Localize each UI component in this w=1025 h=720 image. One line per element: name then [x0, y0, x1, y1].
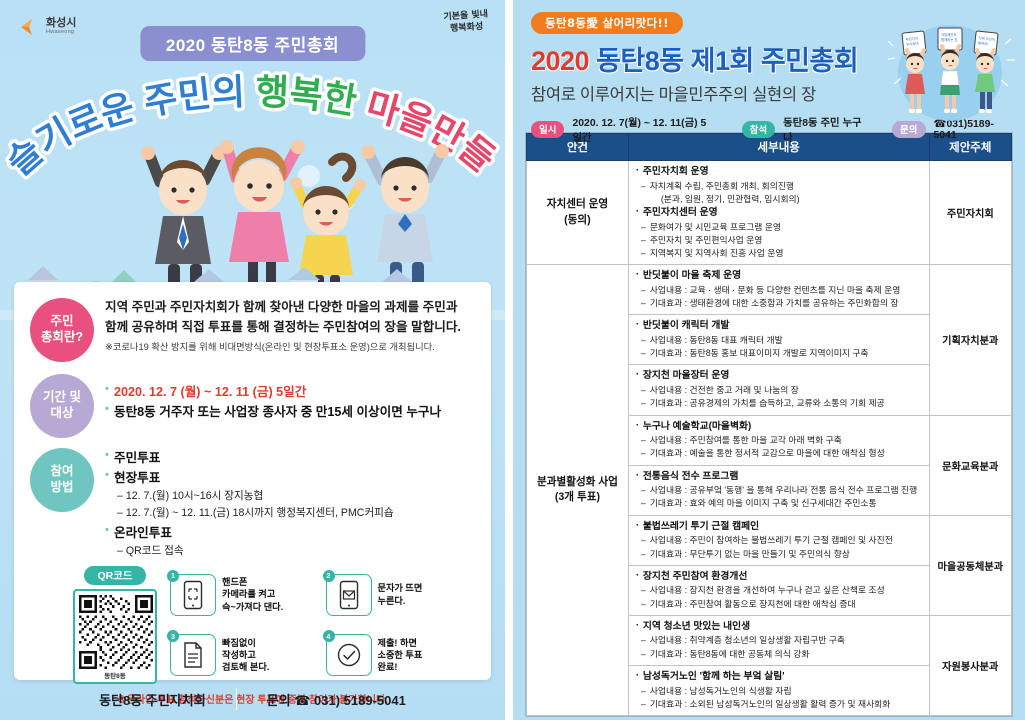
- onsite-detail-1: – 12. 7.(월) 10시~16시 장지농협: [105, 488, 475, 505]
- detail-line: 기대효과 : 무단투기 없는 마을 만들기 및 주민의식 향상: [636, 548, 923, 561]
- proposer-cell: 문화교육분과: [929, 415, 1011, 515]
- step-text-line: 슥~가져다 댄다.: [222, 601, 283, 613]
- detail-line: 기대효과 : 효와 예의 마을 이미지 구축 및 신구세대간 주민소통: [636, 497, 923, 510]
- agenda-title: 분과별활성화 사업: [527, 475, 628, 490]
- bubble-line-2: 총회란?: [41, 330, 83, 344]
- step-text-line: 검토해 본다.: [222, 661, 269, 673]
- agenda-subtitle: (3개 투표): [527, 490, 628, 505]
- qr-code-image[interactable]: [79, 595, 153, 669]
- step-text-line: 문자가 뜨면: [378, 582, 423, 594]
- qr-and-steps: QR코드: [30, 566, 475, 684]
- onsite-detail-2: – 12. 7.(월) ~ 12. 11.(금) 18시까지 행정복지센터, P…: [105, 505, 475, 522]
- detail-cell: 주민자치회 운영 자치계획 수립, 주민총회 개최, 회의진행 (분과, 임원,…: [628, 161, 929, 265]
- detail-cell: 남성독거노인 '함께 하는 부엌 살림' 사업내용 : 남성독거노인의 식생활 …: [628, 665, 929, 715]
- bubble-participation: 참여 방법: [30, 448, 94, 512]
- detail-cell: 반딧불이 마을 축제 운영 사업내용 : 교육 · 생태 · 문화 등 다양한 …: [628, 265, 929, 315]
- proposer-cell: 자원봉사분과: [929, 615, 1011, 715]
- detail-title: 전통음식 전수 프로그램: [636, 470, 923, 485]
- detail-line: 사업내용 : 공유부엌 '동행' 을 통해 우리나라 전통 음식 전수 프로그램…: [636, 484, 923, 497]
- meta-value-attendance: 동탄8동 주민 누구나: [783, 114, 865, 144]
- proposer-cell: 기획자치분과: [929, 265, 1011, 415]
- period-value: 2020. 12. 7 (월) ~ 12. 11 (금) 5일간: [105, 382, 475, 402]
- title-main: 동탄8동 제1회 주민총회: [596, 46, 858, 76]
- online-detail-1: – QR코드 접속: [105, 543, 475, 560]
- list-item: 1 핸드폰 카메라를 켜고 슥~가져다 댄다.: [170, 566, 320, 624]
- hwaseong-star-logo-icon: [18, 15, 42, 39]
- agenda-table: 안건 세부내용 제안주체 자치센터 운영 (동의) 주민자치회 운영 자치계획 …: [526, 133, 1012, 716]
- three-kids-holding-signs-icon: 주민자치 우리동네 사업제안도 함께하는 것 지역 주민이 들려요!: [885, 18, 1015, 123]
- handwritten-slogan: 기본을 빛내 행복화성: [444, 8, 490, 35]
- target-value: 동탄8동 거주자 또는 사업장 종사자 중 만15세 이상이면 누구나: [105, 402, 475, 422]
- table-row: 자치센터 운영 (동의) 주민자치회 운영 자치계획 수립, 주민총회 개최, …: [527, 161, 1012, 265]
- list-item: 4 제출! 하면 소중한 투표 완료!: [326, 626, 476, 684]
- lead-line-1: 지역 주민과 주민자치회가 함께 찾아낸 다양한 마을의 과제를 주민과: [105, 298, 475, 318]
- step-text-line: 핸드폰: [222, 576, 283, 588]
- agenda-title: 자치센터 운영: [527, 197, 628, 212]
- proposer-cell: 주민자치회: [929, 161, 1011, 265]
- method-onsite-vote: 현장투표: [105, 468, 475, 488]
- bubble-line-1: 기간 및: [43, 390, 81, 404]
- detail-line: 사업내용 : 건전한 중고 거래 및 나눔의 장: [636, 384, 923, 397]
- bubble-line-1: 주민: [50, 314, 73, 328]
- bubble-what-is: 주민 총회란?: [30, 298, 94, 362]
- detail-line: 기대효과 : 예술을 통한 정서적 교감으로 마을에 대한 애착심 형성: [636, 447, 923, 460]
- svg-text:함께하는 것: 함께하는 것: [941, 37, 958, 42]
- hwaseong-city-logo: 화성시 Hwaseong: [18, 15, 76, 39]
- table-row: 분과별활성화 사업 (3개 투표) 반딧불이 마을 축제 운영 사업내용 : 교…: [527, 265, 1012, 315]
- step-number: 1: [167, 570, 179, 582]
- qr-caption: 동탄8동: [79, 670, 151, 680]
- detail-line: 주민자치 및 주민편익사업 운영: [636, 234, 923, 247]
- meta-value-datetime: 2020. 12. 7(월) ~ 12. 11(금) 5일간: [572, 114, 714, 144]
- detail-title: 불법쓰레기 투기 근절 캠페인: [636, 520, 923, 535]
- step-text-line: 소중한 투표: [378, 649, 423, 661]
- detail-title: 남성독거노인 '함께 하는 부엌 살림': [636, 670, 923, 685]
- detail-line: 사업내용 : 장지천 환경을 개선하여 누구나 걷고 싶은 산책로 조성: [636, 584, 923, 597]
- footer-contact: 문의 ☎ 031) 5189-5041: [237, 690, 436, 709]
- poster-page-right: 동탄8동愛 살어리랏다!! 2020 동탄8동 제1회 주민총회 참여로 이루어…: [513, 0, 1025, 720]
- step-number: 3: [167, 630, 179, 642]
- method-online-vote: 온라인투표: [105, 523, 475, 543]
- footer-organization: 동탄8동 주민자치회: [69, 690, 236, 709]
- detail-line: 자치계획 수립, 주민총회 개최, 회의진행: [636, 180, 923, 193]
- document-icon: 3: [170, 634, 216, 676]
- agenda-subtitle: (동의): [527, 213, 628, 228]
- list-item: 3 빠짐없이 작성하고 검토해 본다.: [170, 626, 320, 684]
- step-text-line: 카메라를 켜고: [222, 588, 283, 600]
- detail-title: 누구나 예술학교(마을벽화): [636, 420, 923, 435]
- detail-title: 반딧불이 마을 축제 운영: [636, 269, 923, 284]
- check-circle-icon: 4: [326, 634, 372, 676]
- proposer-cell: 마을공동체분과: [929, 515, 1011, 615]
- lead-line-2: 함께 공유하며 직접 투표를 통해 결정하는 주민참여의 장을 말합니다.: [105, 318, 475, 338]
- agenda-cell-2: 분과별활성화 사업 (3개 투표): [527, 265, 629, 716]
- detail-line: 기대효과 : 동탄8동 홍보 대표이미지 개발로 지역이미지 구축: [636, 347, 923, 360]
- city-name-en: Hwaseong: [46, 30, 76, 36]
- detail-line: 문화여가 및 시민교육 프로그램 운영: [636, 221, 923, 234]
- detail-line: 사업내용 : 남성독거노인의 식생활 자립: [636, 685, 923, 698]
- detail-cell: 불법쓰레기 투기 근절 캠페인 사업내용 : 주민이 참여하는 불법쓰레기 투기…: [628, 515, 929, 565]
- bubble-line-2: 대상: [50, 406, 73, 420]
- detail-title: 장지천 주민참여 환경개선: [636, 570, 923, 585]
- detail-line: 사업내용 : 취약계층 청소년의 일상생활 자립구반 구축: [636, 634, 923, 647]
- bubble-line-1: 참여: [50, 464, 73, 478]
- section-what-is: 주민 총회란? 지역 주민과 주민자치회가 함께 찾아낸 다양한 마을의 과제를…: [30, 296, 475, 362]
- meta-tag-attendance: 참석: [742, 121, 775, 138]
- section-participation: 참여 방법 주민투표 현장투표 – 12. 7.(월) 10시~16시 장지농협…: [30, 446, 475, 560]
- step-text-line: 완료!: [378, 661, 423, 673]
- detail-line: 기대효과 : 주민참여 활동으로 장지천에 대한 애착심 증대: [636, 598, 923, 611]
- info-card: 주민 총회란? 지역 주민과 주민자치회가 함께 찾아낸 다양한 마을의 과제를…: [14, 282, 491, 680]
- qr-block: QR코드: [70, 566, 160, 684]
- meta-tag-datetime: 일시: [531, 121, 564, 138]
- detail-line: 기대효과 : 소외된 남성독거노인의 일상생활 활력 증가 및 재사회화: [636, 698, 923, 711]
- detail-title: 반딧불이 캐릭터 개발: [636, 319, 923, 334]
- step-text-line: 제출! 하면: [378, 637, 423, 649]
- orange-slogan-pill: 동탄8동愛 살어리랏다!!: [531, 12, 683, 34]
- agenda-cell-1: 자치센터 운영 (동의): [527, 161, 629, 265]
- title-year: 2020: [531, 46, 589, 76]
- detail-line: 지역복지 및 지역사회 진흥 사업 운영: [636, 247, 923, 260]
- step-number: 4: [323, 630, 335, 642]
- step-text-line: 작성하고: [222, 649, 269, 661]
- detail-line: 기대효과 : 공유경제의 가치를 습득하고, 교류와 소통의 기회 제공: [636, 397, 923, 410]
- detail-cell: 반딧불이 캐릭터 개발 사업내용 : 동탄8동 대표 캐릭터 개발 기대효과 :…: [628, 315, 929, 365]
- telephone-icon: ☎: [294, 693, 310, 708]
- footer-contact-label: 문의: [267, 693, 291, 708]
- left-page-footer: 동탄8동 주민자치회 문의 ☎ 031) 5189-5041: [0, 688, 505, 710]
- detail-title: 주민자치센터 운영: [636, 206, 923, 221]
- detail-line: 사업내용 : 주민이 참여하는 불법쓰레기 투기 근절 캠페인 및 사진전: [636, 534, 923, 547]
- detail-line: 기대효과 : 생태환경에 대한 소중함과 가치를 공유하는 주민화합의 장: [636, 297, 923, 310]
- detail-line: 사업내용 : 교육 · 생태 · 문화 등 다양한 컨텐츠를 지닌 마을 축제 …: [636, 284, 923, 297]
- slogan-line-2: 행복화성: [445, 21, 490, 36]
- list-item: 2 문자가 뜨면 누른다.: [326, 566, 476, 624]
- section-period-target: 기간 및 대상 2020. 12. 7 (월) ~ 12. 11 (금) 5일간…: [30, 372, 475, 438]
- footer-contact-phone: 031) 5189-5041: [314, 693, 406, 708]
- detail-cell: 장지천 마을장터 운영 사업내용 : 건전한 중고 거래 및 나눔의 장 기대효…: [628, 365, 929, 415]
- agenda-table-wrapper: 안건 세부내용 제안주체 자치센터 운영 (동의) 주민자치회 운영 자치계획 …: [525, 132, 1013, 717]
- page-separator: [505, 0, 513, 720]
- detail-line: 기대효과 : 동탄8동에 대한 공동체 의식 강화: [636, 648, 923, 661]
- detail-cell: 지역 청소년 맛있는 내인생 사업내용 : 취약계층 청소년의 일상생활 자립구…: [628, 615, 929, 665]
- detail-title: 주민자치회 운영: [636, 165, 923, 180]
- phone-scan-icon: 1: [170, 574, 216, 616]
- poster-page-left: 화성시 Hwaseong 기본을 빛내 행복화성 2020 동탄8동 주민총회 …: [0, 0, 505, 720]
- right-header: 동탄8동愛 살어리랏다!! 2020 동탄8동 제1회 주민총회 참여로 이루어…: [513, 0, 1025, 132]
- detail-line: 사업내용 : 동탄8동 대표 캐릭터 개발: [636, 334, 923, 347]
- detail-line: 사업내용 : 주민참여를 통한 마을 교각 아래 벽화 구축: [636, 434, 923, 447]
- svg-text:사업제안도: 사업제안도: [941, 32, 957, 37]
- meta-tag-inquiry: 문의: [892, 121, 925, 138]
- step-text-line: 누른다.: [378, 595, 423, 607]
- detail-cell: 누구나 예술학교(마을벽화) 사업내용 : 주민참여를 통한 마을 교각 아래 …: [628, 415, 929, 465]
- method-resident-vote: 주민투표: [105, 448, 475, 468]
- bubble-line-2: 방법: [50, 480, 73, 494]
- phone-message-icon: 2: [326, 574, 372, 616]
- detail-cell: 전통음식 전수 프로그램 사업내용 : 공유부엌 '동행' 을 통해 우리나라 …: [628, 465, 929, 515]
- city-name-ko: 화성시: [46, 18, 76, 29]
- qr-frame[interactable]: 동탄8동: [73, 589, 157, 684]
- step-number: 2: [323, 570, 335, 582]
- step-text-line: 빠짐없이: [222, 637, 269, 649]
- detail-continuation: (분과, 임원, 정기, 민관협력, 임시회의): [636, 193, 923, 206]
- detail-cell: 장지천 주민참여 환경개선 사업내용 : 장지천 환경을 개선하여 누구나 걷고…: [628, 565, 929, 615]
- detail-title: 장지천 마을장터 운영: [636, 369, 923, 384]
- qr-step-list: 1 핸드폰 카메라를 켜고 슥~가져다 댄다.: [170, 566, 475, 684]
- qr-badge: QR코드: [84, 566, 146, 585]
- detail-title: 지역 청소년 맛있는 내인생: [636, 620, 923, 635]
- bubble-period: 기간 및 대상: [30, 374, 94, 438]
- covid-note: ※코로나19 확산 방지를 위해 비대면방식(온라인 및 현장투표소 운영)으로…: [105, 341, 475, 354]
